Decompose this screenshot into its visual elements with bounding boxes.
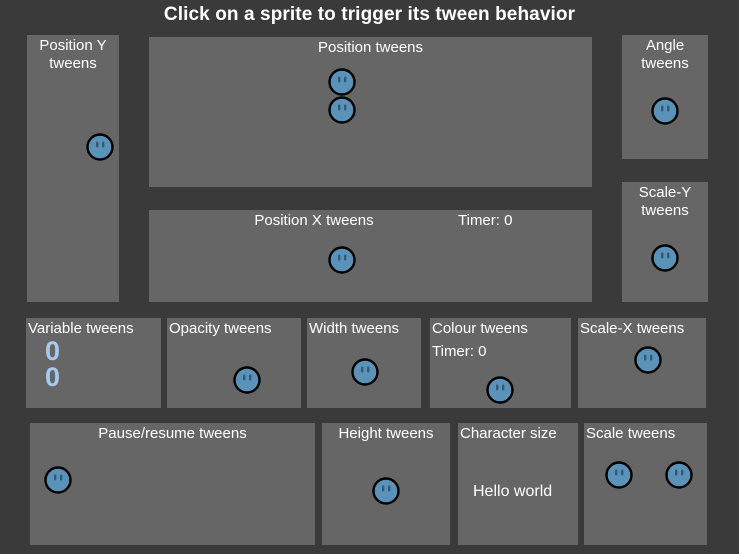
blue-face-sprite[interactable] (651, 244, 679, 272)
panel-character-size-title: Character size (460, 425, 576, 443)
panel-position-tweens[interactable]: Position tweens (149, 37, 592, 187)
panel-width-tweens[interactable]: Width tweens (307, 318, 421, 408)
panel-position-x-title: Position X tweens (149, 212, 479, 230)
panel-scale-title: Scale tweens (586, 425, 705, 443)
page-title: Click on a sprite to trigger its tween b… (0, 4, 739, 26)
blue-face-sprite[interactable] (233, 366, 261, 394)
panel-colour-tweens[interactable]: Colour tweens Timer: 0 (430, 318, 571, 408)
blue-face-sprite[interactable] (372, 477, 400, 505)
panel-scale-x-title: Scale-X tweens (580, 320, 704, 338)
panel-position-x-tweens[interactable]: Position X tweens Timer: 0 (149, 210, 592, 302)
blue-face-sprite[interactable] (634, 346, 662, 374)
panel-opacity-tweens[interactable]: Opacity tweens (167, 318, 301, 408)
panel-pause-resume-tweens[interactable]: Pause/resume tweens (30, 423, 315, 545)
blue-face-sprite[interactable] (605, 461, 633, 489)
panel-angle-tweens[interactable]: Angle tweens (622, 35, 708, 159)
colour-timer-label: Timer: 0 (432, 343, 486, 361)
panel-colour-title: Colour tweens (432, 320, 569, 338)
panel-position-y-title: Position Y tweens (27, 37, 119, 73)
panel-variable-tweens[interactable]: Variable tweens 0 0 (26, 318, 161, 408)
panel-scale-y-title: Scale-Y tweens (622, 184, 708, 220)
panel-angle-title: Angle tweens (622, 37, 708, 73)
blue-face-sprite[interactable] (651, 97, 679, 125)
panel-height-tweens[interactable]: Height tweens (322, 423, 450, 545)
panel-pause-resume-title: Pause/resume tweens (30, 425, 315, 443)
blue-face-sprite[interactable] (328, 246, 356, 274)
panel-width-title: Width tweens (309, 320, 419, 338)
position-x-timer-label: Timer: 0 (458, 212, 512, 230)
variable-value-1: 0 (45, 338, 60, 365)
character-size-sample-text[interactable]: Hello world (473, 483, 552, 501)
panel-character-size[interactable]: Character size Hello world (458, 423, 578, 545)
panel-position-title: Position tweens (149, 39, 592, 57)
blue-face-sprite[interactable] (86, 133, 114, 161)
panel-scale-x-tweens[interactable]: Scale-X tweens (578, 318, 706, 408)
panel-scale-y-tweens[interactable]: Scale-Y tweens (622, 182, 708, 302)
variable-value-2: 0 (45, 364, 60, 391)
blue-face-sprite[interactable] (44, 466, 72, 494)
blue-face-sprite[interactable] (328, 68, 356, 96)
panel-height-title: Height tweens (322, 425, 450, 443)
panel-position-y-tweens[interactable]: Position Y tweens (27, 35, 119, 302)
blue-face-sprite[interactable] (328, 96, 356, 124)
blue-face-sprite[interactable] (665, 461, 693, 489)
blue-face-sprite[interactable] (351, 358, 379, 386)
blue-face-sprite[interactable] (486, 376, 514, 404)
panel-opacity-title: Opacity tweens (169, 320, 299, 338)
tween-demo-canvas: Click on a sprite to trigger its tween b… (0, 0, 739, 554)
panel-scale-tweens[interactable]: Scale tweens (584, 423, 707, 545)
